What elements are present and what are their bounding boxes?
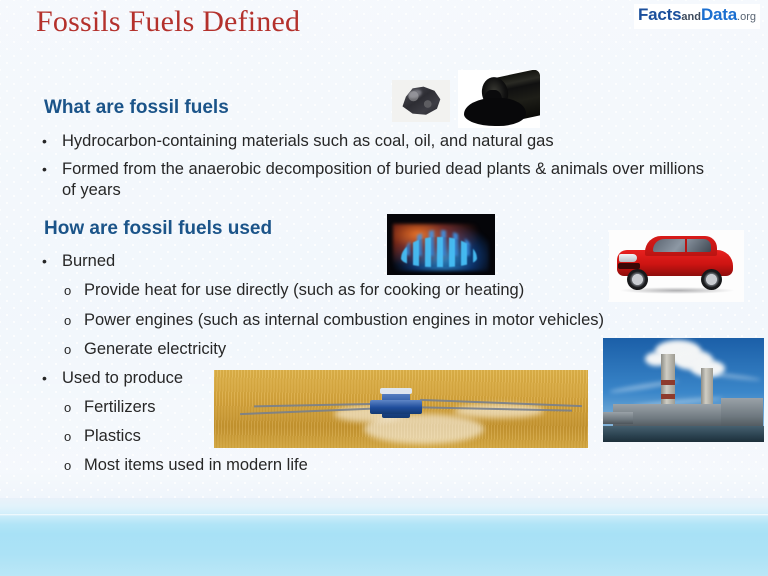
bullet-text: Fertilizers (84, 397, 284, 418)
section-heading-what-are-fossil-fuels: What are fossil fuels (44, 97, 229, 119)
bullet-text: Plastics (84, 426, 284, 447)
bullet-item: o Power engines (such as internal combus… (64, 310, 714, 331)
bullet-item: • Formed from the anaerobic decompositio… (42, 159, 722, 201)
bullet-marker: o (64, 426, 82, 448)
bullet-item: • Burned (42, 251, 342, 272)
bullet-text: Provide heat for use directly (such as f… (84, 280, 684, 301)
bullet-item: • Used to produce (42, 368, 302, 389)
section-heading-how-are-fossil-fuels-used: How are fossil fuels used (44, 218, 272, 240)
bullet-text: Hydrocarbon-containing materials such as… (62, 131, 702, 152)
bullet-item: o Most items used in modern life (64, 455, 464, 476)
bullet-text: Formed from the anaerobic decomposition … (62, 159, 722, 201)
bullet-text: Used to produce (62, 368, 302, 389)
slide: Fossils Fuels Defined FactsandData.org (0, 0, 768, 576)
bullet-marker: o (64, 339, 82, 361)
bullet-item: o Generate electricity (64, 339, 464, 360)
bullet-marker: o (64, 310, 82, 332)
bullet-text: Most items used in modern life (84, 455, 464, 476)
bullet-marker: • (42, 159, 60, 180)
bullet-text: Generate electricity (84, 339, 464, 360)
bullet-marker: o (64, 397, 82, 419)
bullet-item: o Plastics (64, 426, 284, 447)
bullet-marker: o (64, 455, 82, 477)
bullet-item: o Provide heat for use directly (such as… (64, 280, 684, 301)
bullet-marker: • (42, 131, 60, 152)
bullet-item: • Hydrocarbon-containing materials such … (42, 131, 702, 152)
bullet-marker: • (42, 368, 60, 389)
bullet-text: Burned (62, 251, 342, 272)
bullet-marker: • (42, 251, 60, 272)
bullet-marker: o (64, 280, 82, 302)
bullet-item: o Fertilizers (64, 397, 284, 418)
slide-content: What are fossil fuels • Hydrocarbon-cont… (0, 0, 768, 576)
bullet-text: Power engines (such as internal combusti… (84, 310, 714, 331)
